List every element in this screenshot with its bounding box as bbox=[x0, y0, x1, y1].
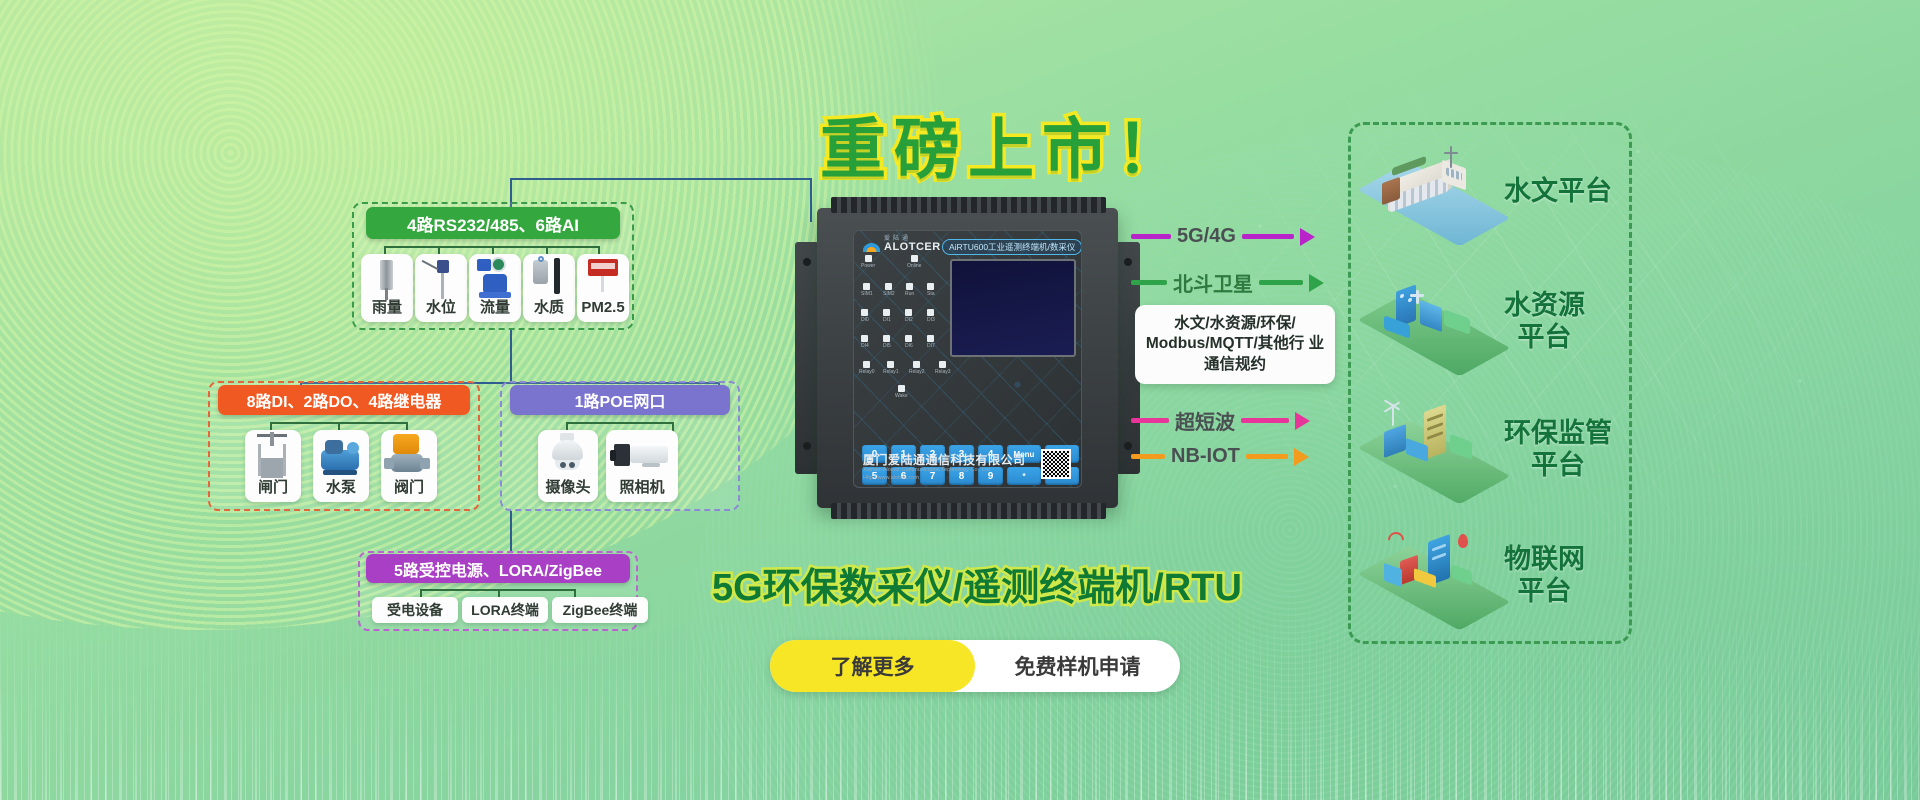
device-label: 闸门 bbox=[258, 480, 288, 497]
sensor-card-rain[interactable]: 雨量 bbox=[361, 254, 413, 322]
arrow-icon bbox=[1300, 228, 1315, 246]
device-label: 摄像头 bbox=[545, 480, 590, 497]
link-label: 5G/4G bbox=[1177, 225, 1236, 248]
dash-left bbox=[1131, 418, 1169, 423]
poe-branch-bar bbox=[566, 422, 674, 424]
link-nbiot: NB-IOT bbox=[1131, 445, 1309, 468]
protocol-card: 水文/水资源/环保/ Modbus/MQTT/其他行 业通信规约 bbox=[1135, 305, 1335, 384]
device-card-valve[interactable]: 阀门 bbox=[381, 430, 437, 502]
led-label: Online bbox=[907, 263, 921, 269]
led-label: Sta bbox=[927, 291, 935, 297]
sensor-label: 雨量 bbox=[372, 300, 402, 317]
device-card-gate[interactable]: 闸门 bbox=[245, 430, 301, 502]
platform-environment[interactable]: 环保监管 平台 bbox=[1370, 398, 1612, 502]
alotcer-logo-icon bbox=[863, 238, 880, 252]
link-5g4g: 5G/4G bbox=[1131, 225, 1315, 248]
device-label: 阀门 bbox=[394, 480, 424, 497]
company-website: Http://www.alotcer.com bbox=[863, 475, 1026, 481]
sensor-card-flow[interactable]: 流量 bbox=[469, 254, 521, 322]
led-label: Run bbox=[905, 291, 914, 297]
dome-camera-icon bbox=[538, 430, 598, 480]
led-label: DI4 bbox=[861, 343, 869, 349]
promo-banner: 重磅上市！ 4路RS232/485、6路AI 雨量 水位 流量 bbox=[0, 0, 1920, 800]
bullet-camera-icon bbox=[606, 430, 678, 480]
water-resource-city-icon bbox=[1370, 270, 1498, 374]
panel-dido-header: 8路DI、2路DO、4路继电器 bbox=[218, 385, 470, 415]
water-pump-icon bbox=[313, 430, 369, 480]
led-label: SIM1 bbox=[861, 291, 873, 297]
dash-right bbox=[1241, 418, 1289, 423]
cta-button-group[interactable]: 了解更多 免费样机申请 bbox=[770, 640, 1180, 692]
power-item-load[interactable]: 受电设备 bbox=[372, 597, 458, 623]
led-label: DI0 bbox=[861, 317, 869, 323]
page-title: 重磅上市！ bbox=[820, 96, 1190, 192]
device-card-bullet-camera[interactable]: 照相机 bbox=[606, 430, 678, 502]
dash-right bbox=[1242, 234, 1294, 239]
platform-label: 物联网 平台 bbox=[1504, 544, 1585, 608]
led-label: SIM2 bbox=[883, 291, 895, 297]
sensor-card-pm25[interactable]: PM2.5 bbox=[577, 254, 629, 322]
device-model-label: AiRTU600工业遥测终端机/数采仪 bbox=[942, 239, 1082, 255]
sensor-label: 水位 bbox=[426, 300, 456, 317]
link-label: NB-IOT bbox=[1171, 445, 1240, 468]
platform-hydrology[interactable]: 水文平台 bbox=[1370, 140, 1612, 244]
company-name-cn: 厦门爱陆通通信科技有限公司 bbox=[863, 454, 1026, 467]
led-label: Relay2 bbox=[909, 369, 925, 375]
dash-left bbox=[1131, 280, 1167, 285]
platform-water-resource[interactable]: 水资源 平台 bbox=[1370, 270, 1585, 374]
water-level-icon bbox=[415, 254, 467, 300]
brand-logo: 爱陆通 ALOTCER bbox=[863, 236, 941, 253]
terminal-block-bottom bbox=[831, 503, 1106, 519]
sensor-card-quality[interactable]: 水质 bbox=[523, 254, 575, 322]
connector-to-power bbox=[510, 511, 512, 553]
led-label: DI6 bbox=[905, 343, 913, 349]
qr-code-icon bbox=[1041, 449, 1071, 479]
device-label: 照相机 bbox=[619, 480, 664, 497]
led-label: Relay1 bbox=[883, 369, 899, 375]
company-name-en: Xiamen Alotcer Communication Technology … bbox=[863, 467, 1026, 475]
led-label: Wake bbox=[895, 393, 908, 399]
sensor-label: 流量 bbox=[480, 300, 510, 317]
panel-power-header: 5路受控电源、LORA/ZigBee bbox=[366, 554, 630, 583]
valve-icon bbox=[381, 430, 437, 480]
water-quality-icon bbox=[523, 254, 575, 300]
environment-city-icon bbox=[1370, 398, 1498, 502]
sensor-card-level[interactable]: 水位 bbox=[415, 254, 467, 322]
device-mount-left bbox=[795, 242, 819, 474]
terminal-block-top bbox=[831, 197, 1106, 213]
sluice-gate-icon bbox=[245, 430, 301, 480]
free-sample-button[interactable]: 免费样机申请 bbox=[975, 640, 1180, 692]
platform-label: 水文平台 bbox=[1504, 176, 1612, 208]
device-front-panel: 爱陆通 ALOTCER AiRTU600工业遥测终端机/数采仪 Power On… bbox=[853, 230, 1082, 488]
dash-left bbox=[1131, 234, 1171, 239]
pm25-sensor-icon bbox=[577, 254, 629, 300]
led-label: DI3 bbox=[927, 317, 935, 323]
dash-left bbox=[1131, 454, 1165, 459]
sensor-label: 水质 bbox=[534, 300, 564, 317]
link-beidou: 北斗卫星 bbox=[1131, 268, 1324, 297]
connector-rs232-to-dido bbox=[510, 330, 512, 382]
device-card-pump[interactable]: 水泵 bbox=[313, 430, 369, 502]
platform-label: 环保监管 平台 bbox=[1504, 418, 1612, 482]
device-lcd-screen bbox=[950, 259, 1076, 357]
flow-meter-icon bbox=[469, 254, 521, 300]
led-label: Power bbox=[861, 263, 875, 269]
arrow-icon bbox=[1294, 448, 1309, 466]
background-bar-texture-dense bbox=[0, 680, 1920, 800]
panel-rs232-header: 4路RS232/485、6路AI bbox=[366, 207, 620, 239]
led-label: DI7 bbox=[927, 343, 935, 349]
device-footer: 厦门爱陆通通信科技有限公司 Xiamen Alotcer Communicati… bbox=[863, 454, 1026, 481]
led-label: DI5 bbox=[883, 343, 891, 349]
sensor-label: PM2.5 bbox=[581, 300, 624, 317]
dash-right bbox=[1259, 280, 1303, 285]
dam-hydrology-icon bbox=[1370, 140, 1498, 244]
device-label: 水泵 bbox=[326, 480, 356, 497]
product-tagline: 5G环保数采仪/遥测终端机/RTU bbox=[712, 556, 1242, 611]
power-item-zigbee[interactable]: ZigBee终端 bbox=[552, 597, 648, 623]
rain-gauge-icon bbox=[361, 254, 413, 300]
connector-device-horizontal bbox=[510, 178, 812, 180]
platform-label: 水资源 平台 bbox=[1504, 290, 1585, 354]
dash-right bbox=[1246, 454, 1288, 459]
rtu-device: 爱陆通 ALOTCER AiRTU600工业遥测终端机/数采仪 Power On… bbox=[795, 208, 1140, 508]
led-label: Relay3 bbox=[935, 369, 951, 375]
brand-name-en: ALOTCER bbox=[884, 242, 941, 253]
led-label: DI1 bbox=[883, 317, 891, 323]
led-label: Relay0 bbox=[859, 369, 875, 375]
link-label: 超短波 bbox=[1175, 406, 1235, 435]
led-label: DI2 bbox=[905, 317, 913, 323]
learn-more-button[interactable]: 了解更多 bbox=[770, 640, 975, 692]
panel-poe-header: 1路POE网口 bbox=[510, 385, 730, 415]
link-ushf: 超短波 bbox=[1131, 406, 1310, 435]
arrow-icon bbox=[1295, 412, 1310, 430]
platform-iot[interactable]: 物联网 平台 bbox=[1370, 524, 1585, 628]
device-card-dome-camera[interactable]: 摄像头 bbox=[538, 430, 598, 502]
iot-city-icon bbox=[1370, 524, 1498, 628]
device-body: 爱陆通 ALOTCER AiRTU600工业遥测终端机/数采仪 Power On… bbox=[817, 208, 1118, 508]
link-label: 北斗卫星 bbox=[1173, 268, 1253, 297]
power-item-lora[interactable]: LORA终端 bbox=[462, 597, 548, 623]
arrow-icon bbox=[1309, 274, 1324, 292]
